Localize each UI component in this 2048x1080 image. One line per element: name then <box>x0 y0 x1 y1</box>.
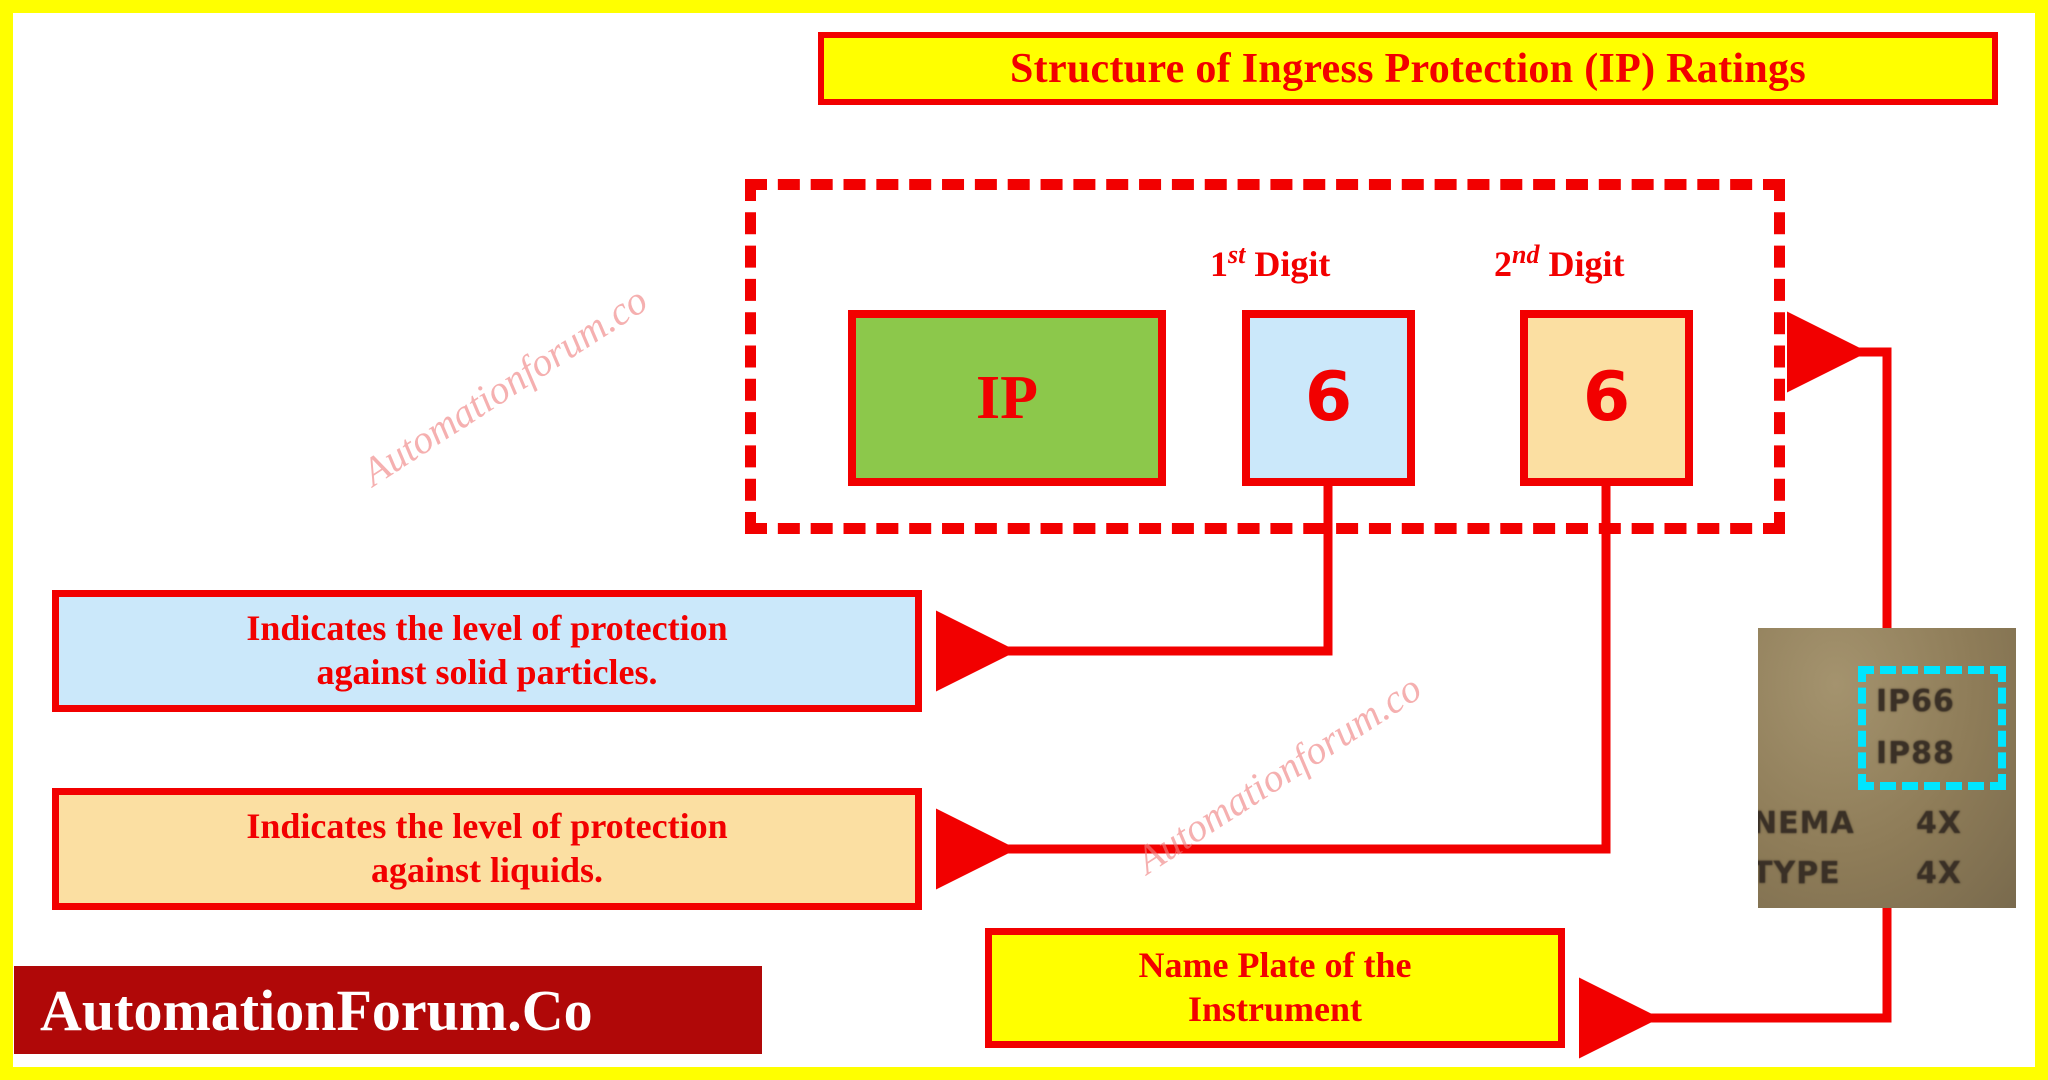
page-title: Structure of Ingress Protection (IP) Rat… <box>1010 45 1806 93</box>
nameplate-type-row: TYPE4X <box>1758 856 1841 891</box>
solid-particles-callout: Indicates the level of protection agains… <box>52 590 922 712</box>
second-digit-caption: 2nd Digit <box>1494 240 1624 285</box>
first-digit-value: 6 <box>1305 364 1352 432</box>
nameplate-callout-text: Name Plate of the Instrument <box>1139 944 1412 1032</box>
first-digit-box: 6 <box>1242 310 1415 486</box>
site-logo: AutomationForum.Co <box>14 966 762 1054</box>
second-digit-caption-number: 2 <box>1494 244 1512 284</box>
first-digit-caption-number: 1 <box>1210 244 1228 284</box>
watermark-text-lower: Automationforum.co <box>1127 664 1429 883</box>
nameplate-nema-value: 4X <box>1916 806 1962 841</box>
first-digit-caption-word: Digit <box>1254 244 1330 284</box>
connector-arrows <box>0 0 2048 1080</box>
instrument-nameplate-photo: IP66 IP88 NEMA4X TYPE4X <box>1758 628 2016 908</box>
page-title-banner: Structure of Ingress Protection (IP) Rat… <box>818 32 1998 105</box>
ip-prefix-box: IP <box>848 310 1166 486</box>
outer-yellow-frame <box>0 0 2048 1080</box>
first-digit-caption: 1st Digit <box>1210 240 1330 285</box>
infographic-canvas: Structure of Ingress Protection (IP) Rat… <box>0 0 2048 1080</box>
nameplate-type-value: 4X <box>1916 856 1962 891</box>
nameplate-type-label: TYPE <box>1758 856 1841 891</box>
first-digit-caption-ordinal: st <box>1228 240 1245 269</box>
second-digit-caption-word: Digit <box>1548 244 1624 284</box>
nameplate-line1: Name Plate of the <box>1139 945 1412 985</box>
site-logo-text: AutomationForum.Co <box>14 977 593 1044</box>
nameplate-line2: Instrument <box>1188 989 1362 1029</box>
liquids-line2: against liquids. <box>371 850 603 890</box>
nameplate-nema-label: NEMA <box>1758 806 1855 841</box>
liquids-text: Indicates the level of protection agains… <box>246 805 727 893</box>
liquids-line1: Indicates the level of protection <box>246 806 727 846</box>
second-digit-box: 6 <box>1520 310 1693 486</box>
ip-prefix-label: IP <box>976 367 1038 429</box>
nameplate-nema-row: NEMA4X <box>1758 806 1855 841</box>
nameplate-callout: Name Plate of the Instrument <box>985 928 1565 1048</box>
solid-particles-text: Indicates the level of protection agains… <box>246 607 727 695</box>
second-digit-caption-ordinal: nd <box>1512 240 1539 269</box>
second-digit-value: 6 <box>1583 364 1630 432</box>
solid-particles-line2: against solid particles. <box>316 652 657 692</box>
solid-particles-line1: Indicates the level of protection <box>246 608 727 648</box>
liquids-callout: Indicates the level of protection agains… <box>52 788 922 910</box>
ip-rating-highlight-box <box>1858 666 2006 790</box>
watermark-text-upper: Automationforum.co <box>353 276 655 495</box>
